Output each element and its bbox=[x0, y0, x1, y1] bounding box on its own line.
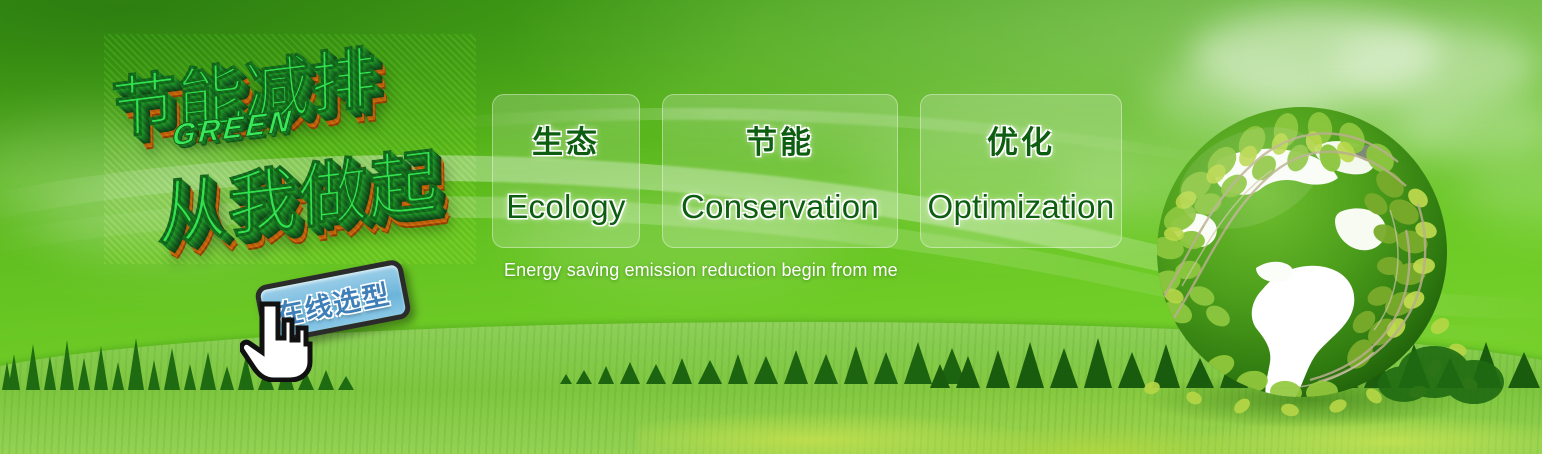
feature-card-conservation[interactable]: 节能 Conservation bbox=[662, 94, 898, 248]
feature-card-en-label: Conservation bbox=[681, 188, 879, 226]
logo-line-bottom: 从我做起 bbox=[156, 124, 440, 260]
logo-weave-texture bbox=[104, 34, 476, 264]
feature-card-cn-label: 优化 bbox=[987, 117, 1055, 162]
feature-card-ecology[interactable]: 生态 Ecology bbox=[492, 94, 640, 248]
cloud-icon bbox=[0, 120, 260, 230]
feature-card-cn-label: 节能 bbox=[746, 117, 814, 162]
feature-card-optimization[interactable]: 优化 Optimization bbox=[920, 94, 1122, 248]
feature-cards: 生态 Ecology 节能 Conservation 优化 Optimizati… bbox=[492, 94, 1122, 248]
tagline: Energy saving emission reduction begin f… bbox=[504, 260, 898, 281]
feature-card-en-label: Optimization bbox=[927, 188, 1114, 226]
cloud-icon bbox=[40, 170, 300, 265]
online-selection-cta[interactable]: 在线选型 bbox=[258, 272, 426, 350]
headline-logo: 节能减排 GREEN 从我做起 bbox=[104, 34, 476, 264]
logo-line-green: GREEN bbox=[171, 104, 295, 153]
green-energy-banner: 节能减排 GREEN 从我做起 在线选型 生态 Ecology 节能 Conse… bbox=[0, 0, 1542, 454]
leafy-green-globe-icon bbox=[1122, 100, 1522, 446]
feature-card-cn-label: 生态 bbox=[532, 117, 600, 162]
cloud-icon bbox=[1330, 28, 1540, 106]
cloud-icon bbox=[1190, 10, 1440, 100]
pointing-hand-cursor-icon bbox=[240, 298, 314, 382]
logo-line-top: 节能减排 bbox=[110, 23, 378, 152]
feature-card-en-label: Ecology bbox=[506, 188, 626, 226]
